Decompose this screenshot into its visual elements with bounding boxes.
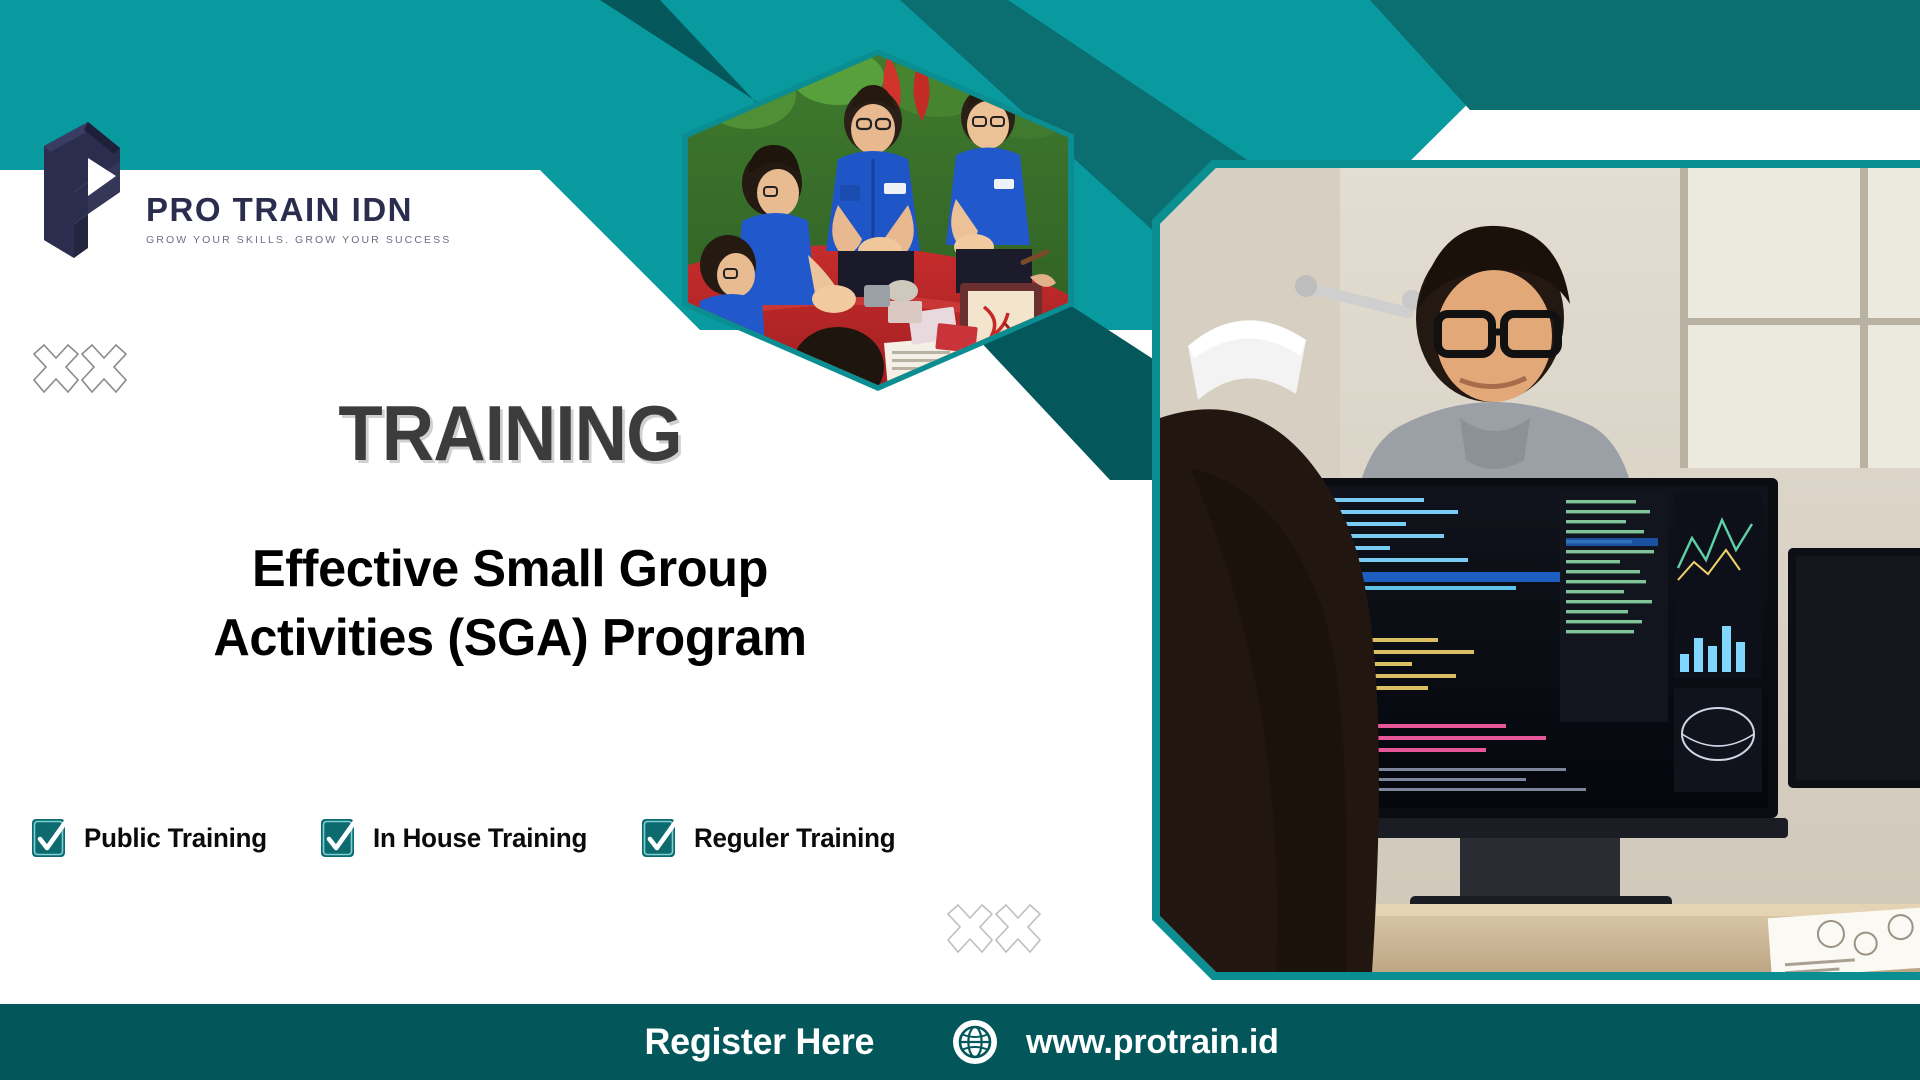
kicker-training: TRAINING xyxy=(36,394,985,472)
group-activity-participants-blue-uniform-photo xyxy=(688,55,1068,385)
team-working-at-computer-workstation-photo xyxy=(1160,168,1920,972)
training-type-label: Reguler Training xyxy=(694,823,895,854)
checkbox-checked-icon[interactable] xyxy=(30,816,70,860)
page-title-line-1: Effective Small Group xyxy=(15,535,1004,604)
register-here-label[interactable]: Register Here xyxy=(645,1021,875,1063)
page-title: Effective Small Group Activities (SGA) P… xyxy=(15,535,1004,672)
training-type-reguler[interactable]: Reguler Training xyxy=(640,816,904,860)
website-url[interactable]: www.protrain.id xyxy=(1026,1023,1279,1062)
training-type-label: Public Training xyxy=(84,823,267,854)
x-cross-outline-icon xyxy=(940,900,1048,966)
page-title-line-2: Activities (SGA) Program xyxy=(15,604,1004,673)
globe-icon xyxy=(952,1019,998,1065)
brand-logo[interactable]: PRO TRAIN IDN GROW YOUR SKILLS. GROW YOU… xyxy=(34,118,451,268)
poster-canvas: PRO TRAIN IDN GROW YOUR SKILLS. GROW YOU… xyxy=(0,0,1920,1080)
logo-tagline: GROW YOUR SKILLS. GROW YOUR SUCCESS xyxy=(146,234,451,246)
training-type-label: In House Training xyxy=(373,823,587,854)
training-type-in-house[interactable]: In House Training xyxy=(319,816,596,860)
pro-train-arrow-logo-icon xyxy=(34,118,132,268)
logo-name: PRO TRAIN IDN xyxy=(146,193,451,226)
training-types-list: Public Training In House Training Regule… xyxy=(30,816,904,860)
training-type-public[interactable]: Public Training xyxy=(30,816,275,860)
checkbox-checked-icon[interactable] xyxy=(319,816,359,860)
footer-bar: Register Here www.protrain.id xyxy=(0,1004,1920,1080)
checkbox-checked-icon[interactable] xyxy=(640,816,680,860)
